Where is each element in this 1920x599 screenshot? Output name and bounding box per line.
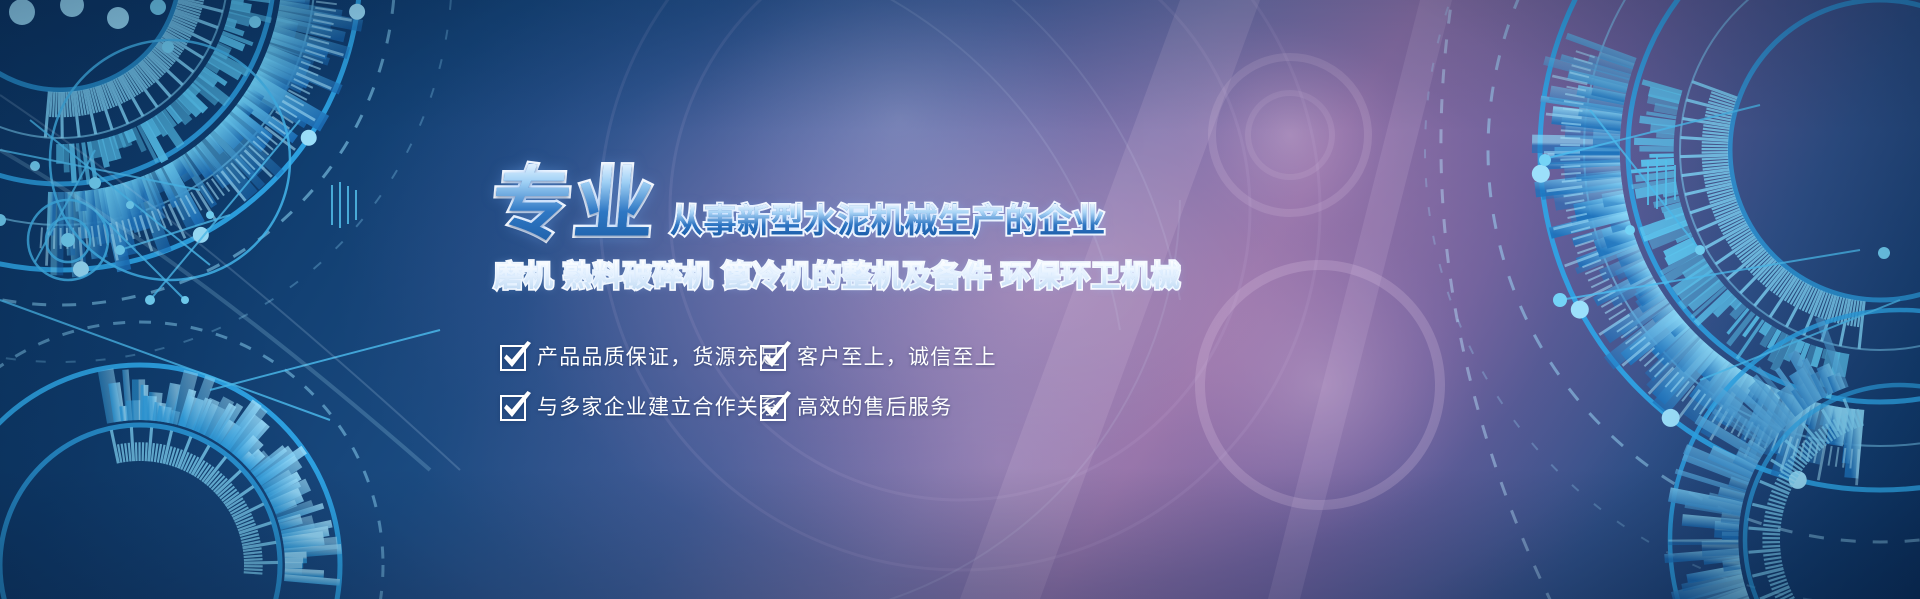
- feature-item-after-sales: 高效的售后服务: [760, 384, 1000, 432]
- feature-item-partnerships: 与多家企业建立合作关系: [500, 384, 760, 432]
- checkmark-glyph: [498, 338, 536, 376]
- banner-content: 专业 专业 从事新型水泥机械生产的企业 从事新型水泥机械生产的企业 磨机 熟料破…: [488, 150, 1108, 470]
- page-subtitle: 从事新型水泥机械生产的企业 从事新型水泥机械生产的企业: [670, 204, 1106, 238]
- feature-item-quality: 产品品质保证，货源充足: [500, 334, 760, 382]
- product-list-fill: 磨机 熟料破碎机 篦冷机的整机及备件 环保环卫机械: [494, 260, 1181, 294]
- checkmark-glyph: [758, 388, 796, 426]
- checkmark-icon: [500, 345, 526, 371]
- checkmark-icon: [500, 395, 526, 421]
- checkmark-icon: [760, 345, 786, 371]
- checkmark-icon: [760, 395, 786, 421]
- product-list-line: 磨机 熟料破碎机 篦冷机的整机及备件 环保环卫机械 磨机 熟料破碎机 篦冷机的整…: [494, 260, 1108, 294]
- checkmark-glyph: [498, 388, 536, 426]
- page-subtitle-fill: 从事新型水泥机械生产的企业: [670, 204, 1106, 238]
- feature-list: 产品品质保证，货源充足 客户至上，诚信至上 与多家企业建立合作关系: [500, 334, 1108, 432]
- feature-label: 客户至上，诚信至上: [797, 346, 997, 370]
- headline-row: 专业 专业 从事新型水泥机械生产的企业 从事新型水泥机械生产的企业: [488, 150, 1108, 246]
- feature-label: 产品品质保证，货源充足: [537, 346, 781, 370]
- page-title: 专业 专业: [488, 164, 659, 246]
- feature-label: 高效的售后服务: [797, 396, 952, 420]
- feature-item-customer-first: 客户至上，诚信至上: [760, 334, 1000, 382]
- checkmark-glyph: [758, 338, 796, 376]
- page-title-fill: 专业: [488, 164, 659, 246]
- hero-banner: 专业 专业 从事新型水泥机械生产的企业 从事新型水泥机械生产的企业 磨机 熟料破…: [0, 0, 1920, 599]
- feature-label: 与多家企业建立合作关系: [537, 396, 781, 420]
